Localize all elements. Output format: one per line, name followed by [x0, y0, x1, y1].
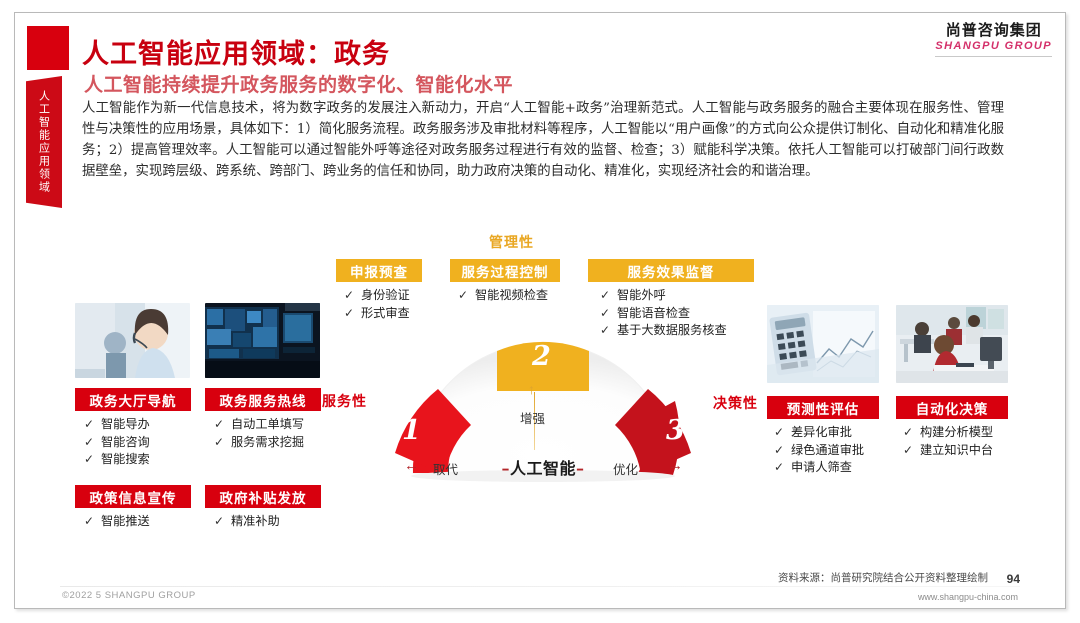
list-item: ✓精准补助 [214, 513, 280, 531]
check-icon: ✓ [84, 416, 101, 434]
check-icon: ✓ [344, 305, 361, 323]
list-item-label: 智能推送 [101, 513, 150, 531]
check-icon: ✓ [903, 424, 920, 442]
dash-left-icon: – [501, 459, 510, 478]
check-icon: ✓ [214, 416, 231, 434]
footer-divider [60, 586, 1020, 587]
card-list-automated-decision: ✓构建分析模型 ✓建立知识中台 [903, 424, 993, 459]
card-title-service-hotline[interactable]: 政务服务热线 [205, 388, 321, 411]
list-item-label: 智能搜索 [101, 451, 150, 469]
list-item-label: 构建分析模型 [920, 424, 993, 442]
arc-number-1: 1 [402, 415, 421, 446]
sidebar-red-block [27, 26, 69, 70]
list-item: ✓智能咨询 [84, 434, 150, 452]
check-icon: ✓ [600, 287, 617, 305]
page-subtitle: 人工智能持续提升政务服务的数字化、智能化水平 [84, 70, 513, 97]
card-title-process-control[interactable]: 服务过程控制 [450, 259, 560, 282]
card-list-process-control: ✓智能视频检查 [458, 287, 548, 305]
list-item-label: 智能语音检查 [617, 305, 690, 323]
card-title-automated-decision[interactable]: 自动化决策 [896, 396, 1008, 419]
office-workers-photo [896, 305, 1008, 383]
arc-center-text: 人工智能 [510, 459, 576, 478]
list-item-label: 申请人筛查 [791, 459, 852, 477]
arrow-right-icon: → [668, 458, 683, 473]
category-label-decision: 决策性 [713, 393, 758, 413]
list-item: ✓建立知识中台 [903, 442, 993, 460]
brand-logo-rule [935, 56, 1052, 57]
page-title: 人工智能应用领域：政务 [82, 32, 390, 71]
card-title-predictive-eval[interactable]: 预测性评估 [767, 396, 879, 419]
footer-source: 资料来源：尚普研究院结合公开资料整理绘制 [778, 570, 988, 585]
check-icon: ✓ [774, 424, 791, 442]
arc-number-2: 2 [532, 341, 551, 372]
list-item: ✓智能语音检查 [600, 305, 727, 323]
list-item: ✓智能外呼 [600, 287, 727, 305]
check-icon: ✓ [458, 287, 475, 305]
list-item-label: 差异化审批 [791, 424, 852, 442]
dash-right-icon: – [576, 459, 585, 478]
list-item: ✓智能推送 [84, 513, 150, 531]
check-icon: ✓ [214, 513, 231, 531]
card-list-policy-publicity: ✓智能推送 [84, 513, 150, 531]
calculator-chart-photo [767, 305, 879, 383]
arc-number-3: 3 [666, 415, 685, 446]
check-icon: ✓ [214, 434, 231, 452]
list-item: ✓自动工单填写 [214, 416, 304, 434]
arrow-left-icon: ← [404, 458, 419, 473]
check-icon: ✓ [903, 442, 920, 460]
list-item: ✓智能导办 [84, 416, 150, 434]
list-item: ✓形式审查 [344, 305, 410, 323]
list-item: ✓申请人筛查 [774, 459, 864, 477]
check-icon: ✓ [774, 459, 791, 477]
body-paragraph: 人工智能作为新一代信息技术，将为数字政务的发展注入新动力，开启“人工智能+政务”… [82, 98, 1004, 182]
brand-logo: 尚普咨询集团 SHANGPU GROUP [935, 22, 1052, 57]
list-item-label: 建立知识中台 [920, 442, 993, 460]
card-list-declaration-precheck: ✓身份验证 ✓形式审查 [344, 287, 410, 322]
arrow-up-icon: ↑ [528, 382, 535, 396]
arc-label-enhance: 增强 [520, 408, 545, 427]
card-title-government-hall[interactable]: 政务大厅导航 [75, 388, 191, 411]
page-number: 94 [1007, 572, 1020, 586]
check-icon: ✓ [84, 434, 101, 452]
list-item-label: 智能视频检查 [475, 287, 548, 305]
card-list-effect-supervision: ✓智能外呼 ✓智能语音检查 ✓基于大数据服务核查 [600, 287, 727, 340]
arc-label-optimize: 优化 [613, 459, 638, 478]
brand-logo-en: SHANGPU GROUP [935, 40, 1052, 53]
sidebar-vertical-label: 人工智能应用领域 [39, 90, 50, 194]
card-list-predictive-eval: ✓差异化审批 ✓绿色通道审批 ✓申请人筛查 [774, 424, 864, 477]
list-item: ✓身份验证 [344, 287, 410, 305]
list-item: ✓绿色通道审批 [774, 442, 864, 460]
slide-root: 人工智能应用领域 尚普咨询集团 SHANGPU GROUP 人工智能应用领域：政… [0, 0, 1080, 623]
list-item-label: 精准补助 [231, 513, 280, 531]
list-item: ✓智能搜索 [84, 451, 150, 469]
check-icon: ✓ [774, 442, 791, 460]
list-item-label: 智能咨询 [101, 434, 150, 452]
list-item-label: 自动工单填写 [231, 416, 304, 434]
card-title-policy-publicity[interactable]: 政策信息宣传 [75, 485, 191, 508]
list-item: ✓差异化审批 [774, 424, 864, 442]
call-center-photo [75, 303, 190, 378]
list-item-label: 服务需求挖掘 [231, 434, 304, 452]
card-list-subsidy-issue: ✓精准补助 [214, 513, 280, 531]
category-label-management: 管理性 [489, 232, 534, 252]
arc-center-label: –人工智能– [383, 455, 703, 479]
card-list-service-hotline: ✓自动工单填写 ✓服务需求挖掘 [214, 416, 304, 451]
check-icon: ✓ [84, 451, 101, 469]
list-item: ✓智能视频检查 [458, 287, 548, 305]
list-item-label: 绿色通道审批 [791, 442, 864, 460]
check-icon: ✓ [344, 287, 361, 305]
card-title-subsidy-issue[interactable]: 政府补贴发放 [205, 485, 321, 508]
control-room-photo [205, 303, 320, 378]
list-item-label: 智能导办 [101, 416, 150, 434]
category-label-service: 服务性 [322, 391, 367, 411]
list-item-label: 身份验证 [361, 287, 410, 305]
card-title-effect-supervision[interactable]: 服务效果监督 [588, 259, 754, 282]
check-icon: ✓ [84, 513, 101, 531]
card-list-government-hall: ✓智能导办 ✓智能咨询 ✓智能搜索 [84, 416, 150, 469]
footer-url[interactable]: www.shangpu-china.com [918, 592, 1018, 602]
sidebar-vertical-tab[interactable]: 人工智能应用领域 [26, 76, 62, 208]
brand-logo-cn: 尚普咨询集团 [935, 22, 1052, 39]
list-item: ✓服务需求挖掘 [214, 434, 304, 452]
list-item-label: 形式审查 [361, 305, 410, 323]
list-item-label: 智能外呼 [617, 287, 666, 305]
list-item: ✓构建分析模型 [903, 424, 993, 442]
check-icon: ✓ [600, 305, 617, 323]
footer-copyright: ©2022 5 SHANGPU GROUP [62, 590, 196, 601]
card-title-declaration-precheck[interactable]: 申报预查 [336, 259, 422, 282]
arc-label-replace: 取代 [433, 459, 458, 478]
